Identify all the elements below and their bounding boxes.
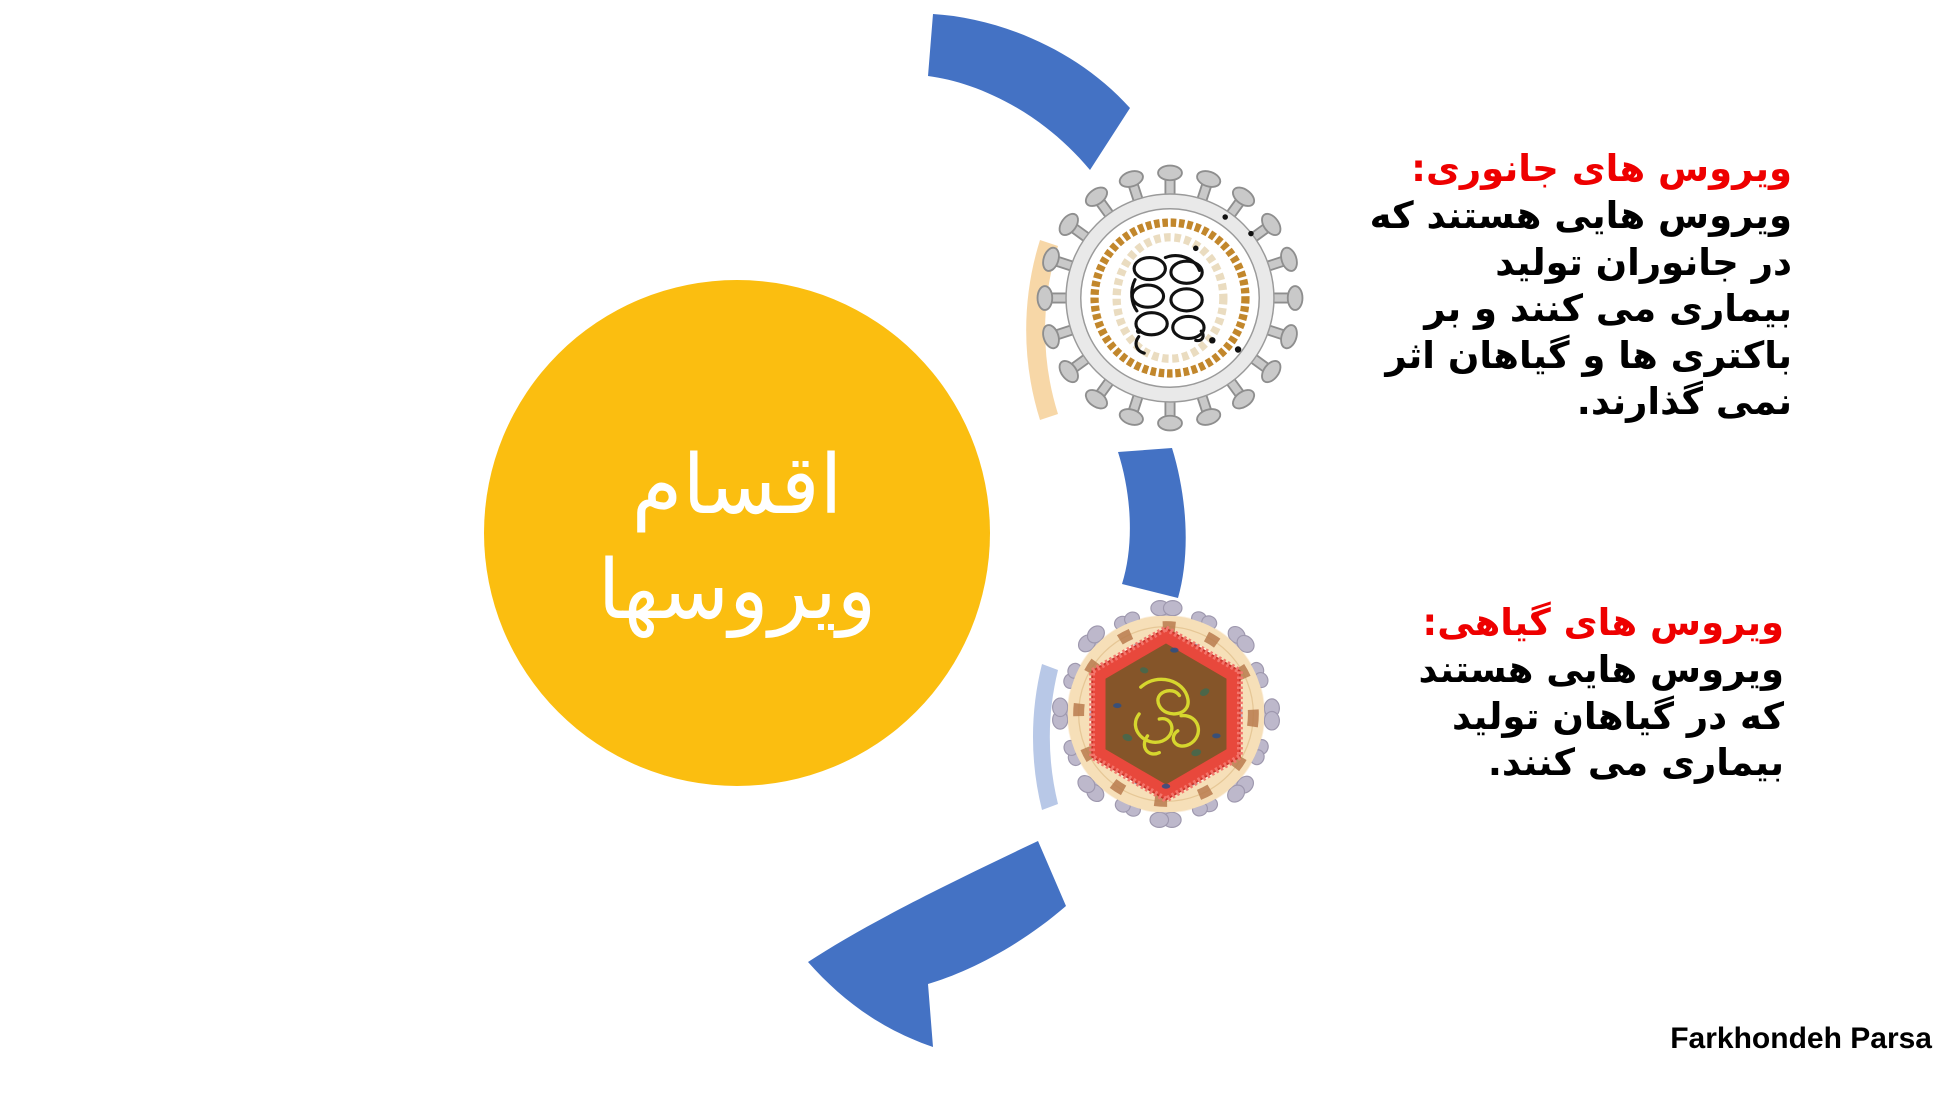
center-circle-shape[interactable]: اقسام ویروسها	[484, 280, 990, 786]
center-circle-label: اقسام ویروسها	[598, 434, 877, 644]
animal-virus-body: ویروس هایی هستند که در جانوران تولید بیم…	[1360, 193, 1792, 426]
animal-virus-illustration	[1032, 160, 1308, 436]
ring-segment-bottom	[808, 841, 1066, 1047]
plant-virus-illustration	[1040, 588, 1292, 840]
plant-virus-heading: ویروس های گیاهی:	[1416, 602, 1784, 645]
ring-segment-top	[928, 14, 1130, 170]
plant-virus-body: ویروس هایی هستند که در گیاهان تولید بیما…	[1416, 647, 1784, 787]
ring-segment-middle	[1118, 448, 1186, 598]
author-signature: Farkhondeh Parsa	[1670, 1022, 1932, 1056]
animal-virus-text-block: ویروس های جانوری: ویروس هایی هستند که در…	[1360, 148, 1792, 426]
slide-canvas: اقسام ویروسها	[0, 0, 1960, 1099]
plant-virus-text-block: ویروس های گیاهی: ویروس هایی هستند که در …	[1416, 602, 1784, 787]
animal-virus-heading: ویروس های جانوری:	[1360, 148, 1792, 191]
